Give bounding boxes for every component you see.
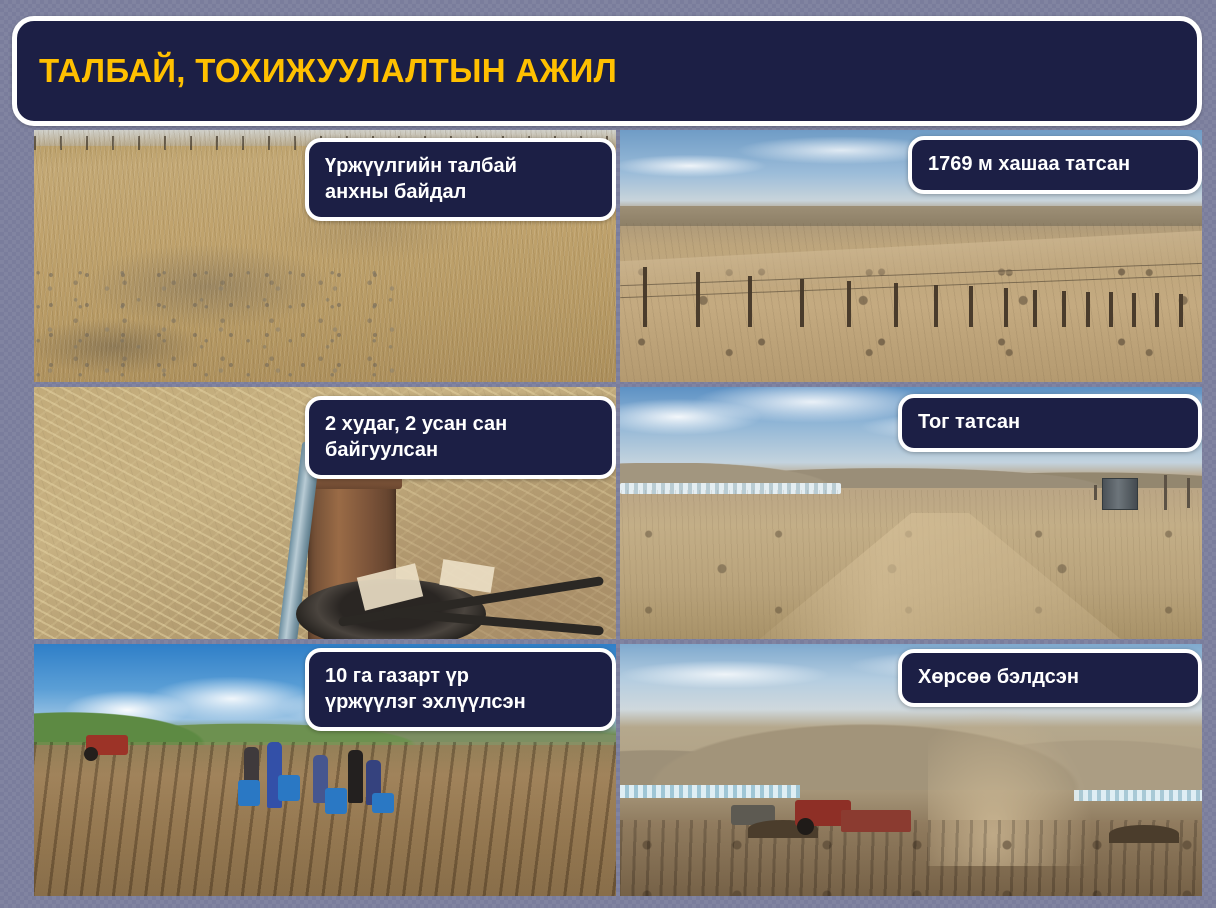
large-hill [620, 704, 1202, 790]
gravel-texture [34, 266, 395, 382]
photo-cell-6[interactable]: Хөрсөө бэлдсэн [620, 644, 1202, 896]
seed-bag-3 [325, 788, 347, 814]
caption-line-1: 10 га газарт үр [325, 664, 596, 690]
caption-photo-6: Хөрсөө бэлдсэн [898, 649, 1202, 707]
greenhouse-row-right [1074, 790, 1202, 801]
slide-title-bar: ТАЛБАЙ, ТОХИЖУУЛАЛТЫН АЖИЛ [12, 16, 1202, 126]
photo-cell-3[interactable]: 2 худаг, 2 усан сан байгуулсан [34, 387, 616, 639]
photo-cell-2[interactable]: 1769 м хашаа татсан [620, 130, 1202, 382]
caption-line-2: анхны байдал [325, 180, 596, 206]
greenhouse-row-left [620, 785, 800, 798]
caption-photo-3: 2 худаг, 2 усан сан байгуулсан [305, 396, 616, 479]
seed-bag-2 [278, 775, 300, 801]
caption-line-2: үржүүлэг эхлүүлсэн [325, 690, 596, 716]
page-title: ТАЛБАЙ, ТОХИЖУУЛАЛТЫН АЖИЛ [17, 52, 617, 90]
photo-cell-1[interactable]: Үржүүлгийн талбай анхны байдал [34, 130, 616, 382]
seed-bag-1 [238, 780, 260, 806]
fence-wire-top [620, 262, 1202, 285]
caption-photo-4: Тог татсан [898, 394, 1202, 452]
caption-line-1: Үржүүлгийн талбай [325, 154, 596, 180]
power-pole-2 [1187, 478, 1190, 508]
photo-grid: Үржүүлгийн талбай анхны байдал [34, 130, 1202, 896]
caption-photo-1: Үржүүлгийн талбай анхны байдал [305, 138, 616, 221]
fence-posts [620, 221, 1202, 327]
power-pole-1 [1164, 475, 1167, 510]
worker-4 [348, 750, 363, 803]
electrical-transformer-box [1102, 478, 1138, 511]
caption-photo-5: 10 га газарт үр үржүүлэг эхлүүлсэн [305, 648, 616, 731]
tractor-trailer [841, 810, 911, 832]
seed-bag-4 [372, 793, 394, 813]
tractor-distant [86, 735, 128, 755]
caption-line-2: байгуулсан [325, 438, 596, 464]
manure-pile-2 [1109, 825, 1179, 843]
photo-cell-4[interactable]: Тог татсан [620, 387, 1202, 639]
caption-line-1: 2 худаг, 2 усан сан [325, 412, 596, 438]
fence-wire-bottom [620, 275, 1202, 298]
caption-photo-2: 1769 м хашаа татсан [908, 136, 1202, 194]
photo-cell-5[interactable]: 10 га газарт үр үржүүлэг эхлүүлсэн [34, 644, 616, 896]
power-pole-3 [1094, 485, 1097, 500]
